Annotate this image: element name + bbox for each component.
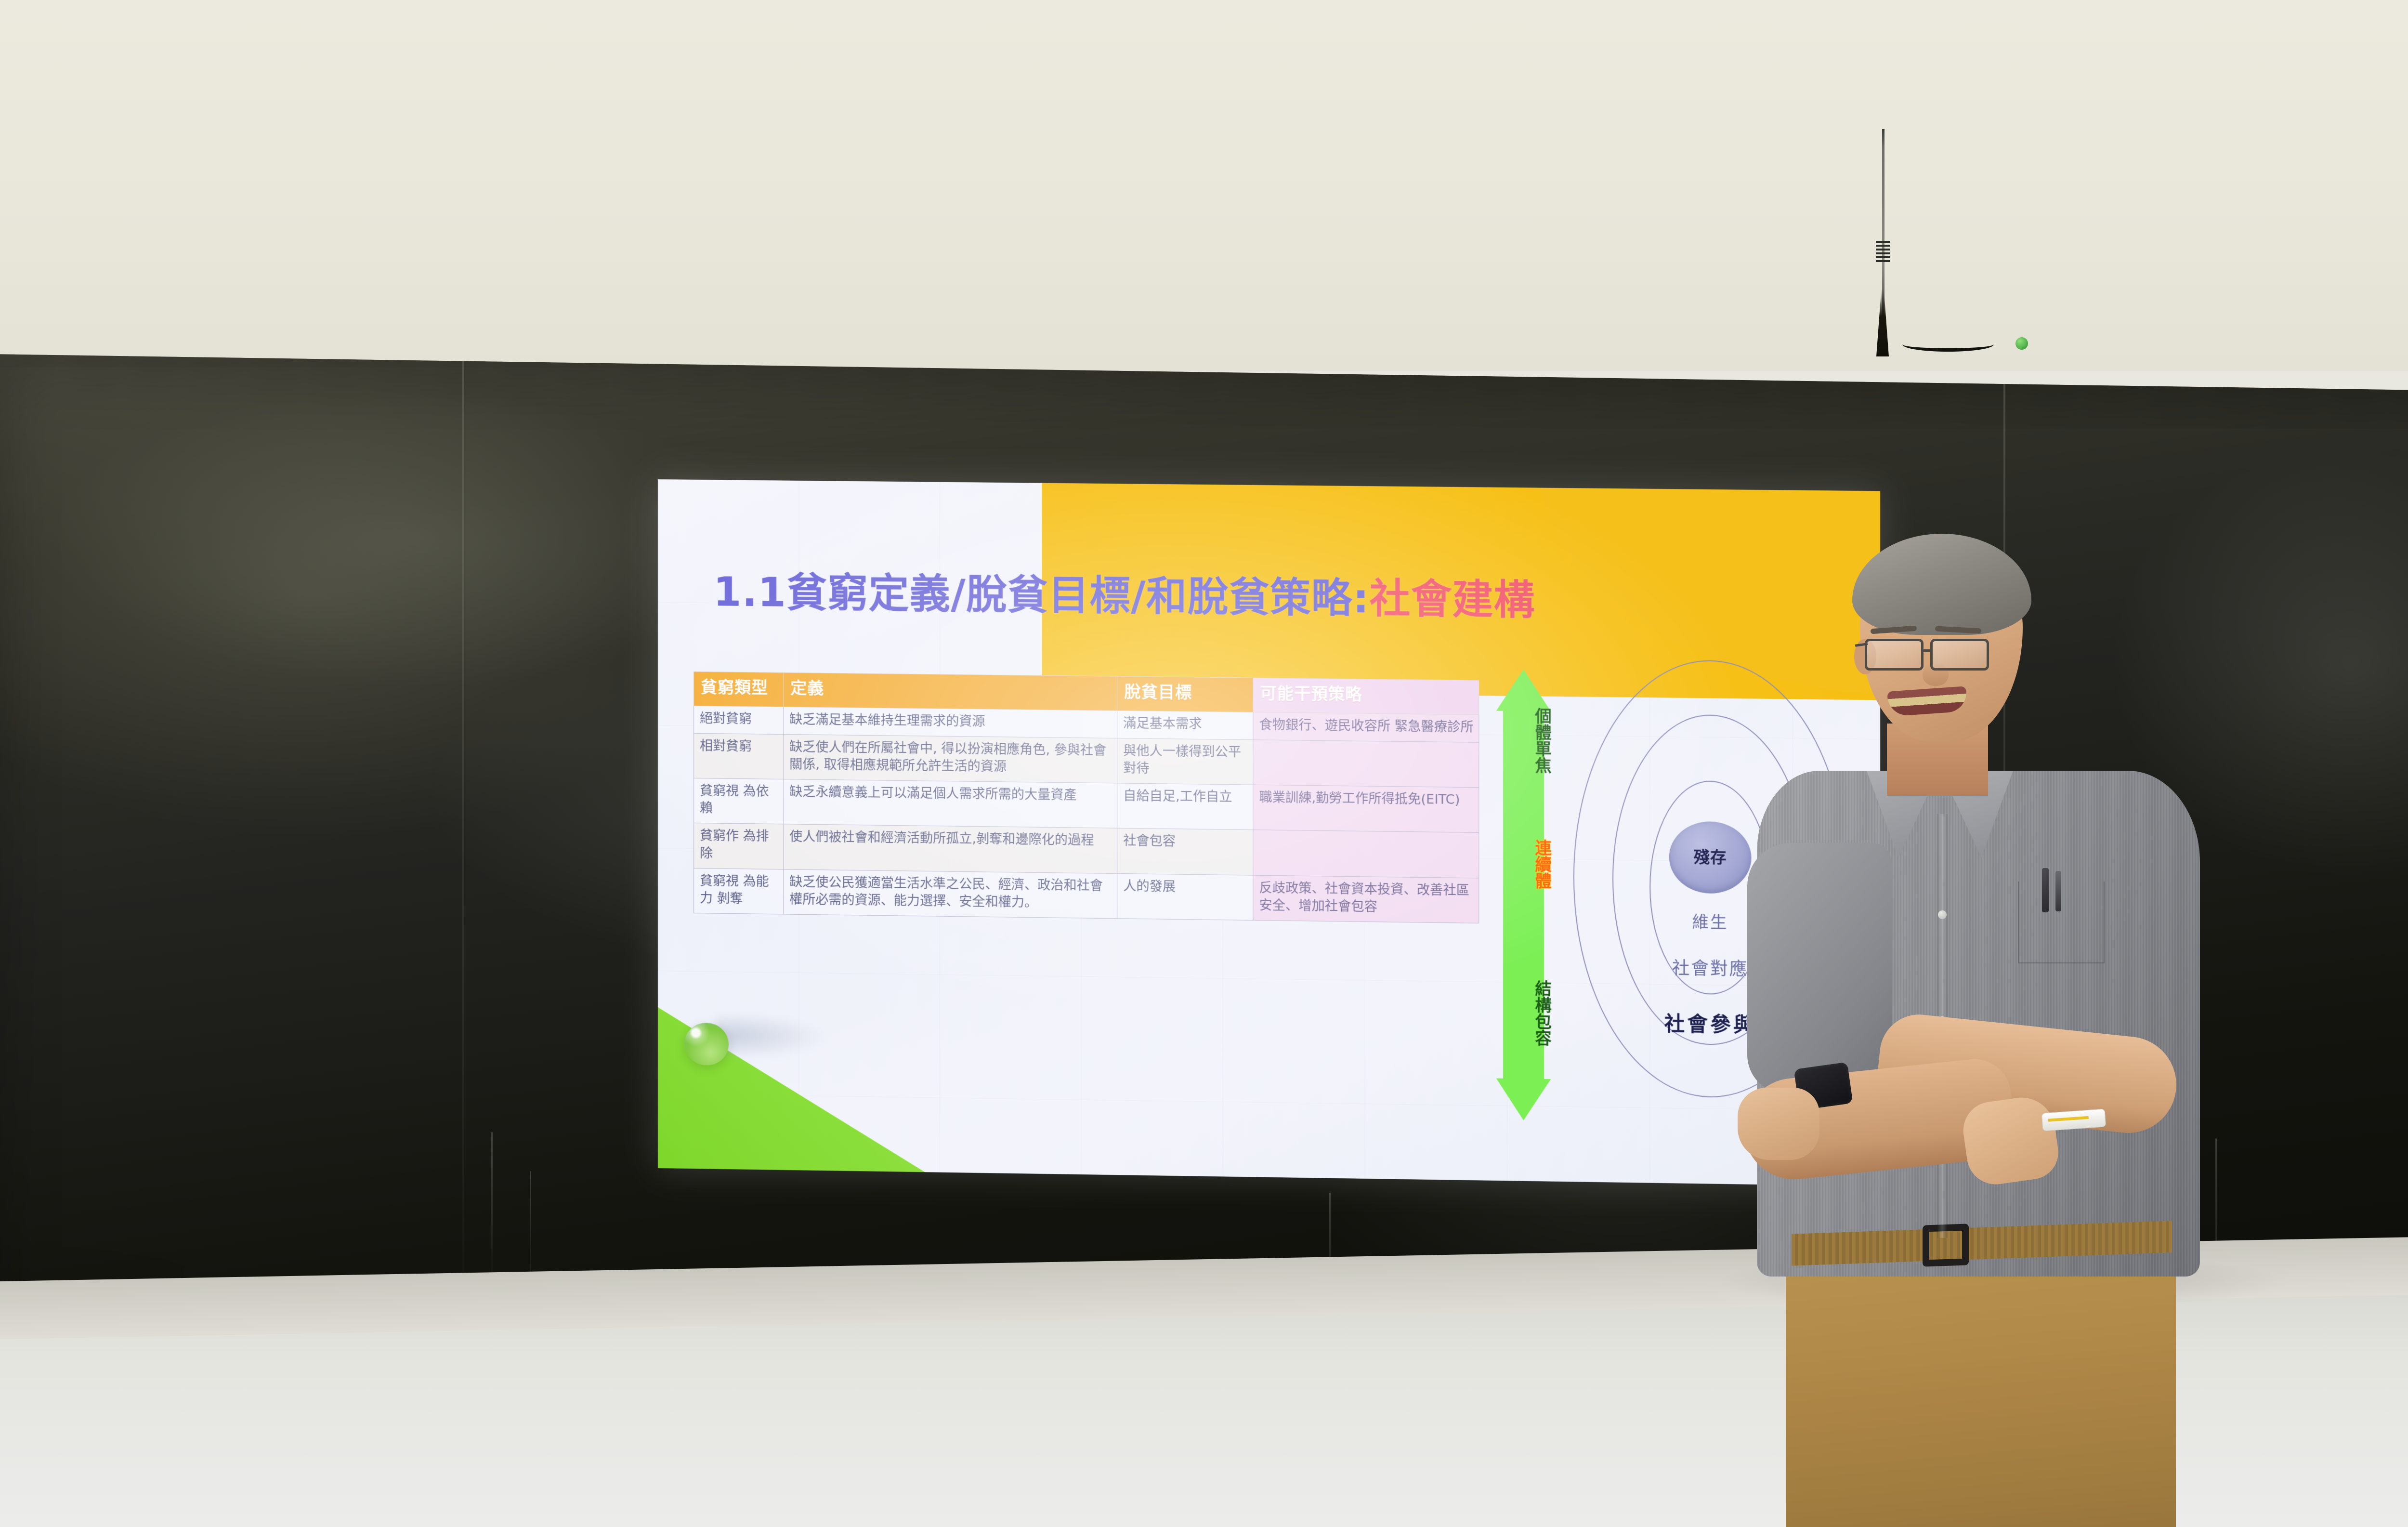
cell-type: 貧窮視 為能力 剝奪 bbox=[694, 868, 784, 914]
pen-icon bbox=[2055, 871, 2061, 911]
shirt-button bbox=[1938, 910, 1947, 919]
cell-definition: 缺乏使人們在所屬社會中, 得以扮演相應角色, 參與社會關係, 取得相應規範所允許… bbox=[784, 734, 1117, 783]
column-header-goal: 脫貧目標 bbox=[1117, 676, 1253, 712]
column-header-definition: 定義 bbox=[784, 672, 1117, 710]
column-header-type: 貧窮類型 bbox=[694, 671, 784, 707]
cell-goal: 自給自足,工作自立 bbox=[1117, 783, 1253, 830]
arrow-head-up-icon bbox=[1496, 669, 1551, 711]
cell-definition: 缺乏永續意義上可以滿足個人需求所需的大量資產 bbox=[784, 779, 1117, 829]
cell-type: 絕對貧窮 bbox=[694, 706, 784, 734]
pen-icon bbox=[2042, 868, 2049, 912]
arrow-label-individual: 個體單焦 bbox=[1496, 707, 1551, 774]
cell-type: 貧窮作 為排除 bbox=[694, 823, 784, 869]
table-row: 貧窮視 為能力 剝奪 缺乏使公民獲適當生活水準之公民、經濟、政治和社會權所必需的… bbox=[694, 868, 1479, 923]
cell-goal: 社會包容 bbox=[1117, 829, 1253, 875]
hanging-wire bbox=[1902, 337, 1994, 352]
continuum-double-arrow-icon: 個體單焦 連續體 結構包容 bbox=[1496, 669, 1551, 1121]
glasses-lens-left bbox=[1865, 639, 1924, 671]
cell-strategy bbox=[1253, 739, 1479, 787]
classroom-scene: 1.1貧窮定義/脫貧目標/和脫貧策略:社會建構 貧窮類型 定義 脫貧目標 可能干… bbox=[0, 0, 2408, 1527]
arrow-label-structural: 結構包容 bbox=[1496, 979, 1551, 1046]
slide-title-accent: 社會建構 bbox=[1370, 575, 1535, 624]
cell-goal: 滿足基本需求 bbox=[1117, 711, 1253, 740]
nose bbox=[1923, 663, 1949, 686]
sleeve-left bbox=[1747, 843, 1892, 1093]
projected-slide: 1.1貧窮定義/脫貧目標/和脫貧策略:社會建構 貧窮類型 定義 脫貧目標 可能干… bbox=[658, 479, 1880, 1186]
cell-type: 相對貧窮 bbox=[694, 733, 784, 779]
cell-strategy bbox=[1253, 830, 1479, 878]
orb-reflection bbox=[716, 1013, 826, 1060]
cell-definition: 缺乏使公民獲適當生活水準之公民、經濟、政治和社會權所必需的資源、能力選擇、安全和… bbox=[784, 869, 1117, 919]
cell-definition: 使人們被社會和經濟活動所孤立,剝奪和邊際化的過程 bbox=[784, 824, 1117, 873]
column-header-strategy: 可能干預策略 bbox=[1253, 678, 1479, 714]
status-dot-icon bbox=[2015, 337, 2028, 350]
cell-goal: 與他人一樣得到公平對待 bbox=[1117, 738, 1253, 785]
slide-title: 1.1貧窮定義/脫貧目標/和脫貧策略:社會建構 bbox=[713, 559, 1535, 626]
slide-title-main: 1.1貧窮定義/脫貧目標/和脫貧策略: bbox=[713, 568, 1369, 622]
cell-goal: 人的發展 bbox=[1117, 873, 1253, 920]
cell-strategy: 反歧政策、社會資本投資、改善社區安全、增加社會包容 bbox=[1253, 875, 1479, 923]
arrow-head-down-icon bbox=[1496, 1079, 1551, 1121]
upper-wall bbox=[0, 0, 2408, 371]
antenna-coil-icon bbox=[1876, 241, 1890, 264]
hand-right bbox=[1738, 1088, 1819, 1160]
presenter bbox=[1734, 544, 2220, 1527]
cell-type: 貧窮視 為依賴 bbox=[694, 778, 784, 824]
glass-orb-icon bbox=[684, 1023, 729, 1066]
ring-label-subsistence: 維生 bbox=[1692, 908, 1728, 933]
poverty-table: 貧窮類型 定義 脫貧目標 可能干預策略 絕對貧窮 缺乏滿足基本維持生理需求的資源… bbox=[694, 671, 1479, 923]
cell-strategy: 食物銀行、遊民收容所 緊急醫療診所 bbox=[1253, 712, 1479, 742]
cell-strategy: 職業訓練,勤勞工作所得抵免(EITC) bbox=[1253, 785, 1479, 833]
shirt-pocket bbox=[2018, 882, 2105, 963]
center-circle-label: 殘存 bbox=[1694, 848, 1727, 866]
cell-definition: 缺乏滿足基本維持生理需求的資源 bbox=[784, 707, 1117, 738]
arrow-label-continuum: 連續體 bbox=[1496, 839, 1551, 889]
hair bbox=[1852, 534, 2031, 635]
glasses-bridge bbox=[1923, 649, 1932, 652]
